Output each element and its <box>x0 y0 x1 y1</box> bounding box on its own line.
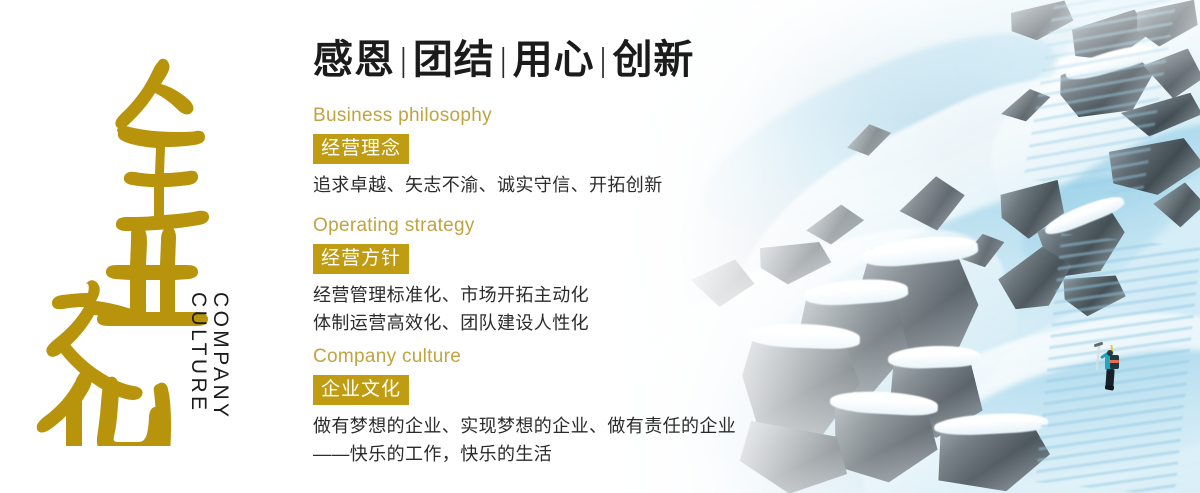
body-line: 追求卓越、矢志不渝、诚实守信、开拓创新 <box>313 172 873 200</box>
section-body: 经营管理标准化、市场开拓主动化 体制运营高效化、团队建设人性化 <box>313 282 873 338</box>
body-line: 做有梦想的企业、实现梦想的企业、做有责任的企业 <box>313 413 873 441</box>
section-badge: 企业文化 <box>313 375 409 405</box>
logo-english-text: COMPANY CULTURE <box>206 292 266 493</box>
section-badge: 经营理念 <box>313 134 409 164</box>
headline-separator: | <box>595 44 613 78</box>
section-operating-strategy: Operating strategy 经营方针 经营管理标准化、市场开拓主动化 … <box>313 214 873 338</box>
section-body: 做有梦想的企业、实现梦想的企业、做有责任的企业 ——快乐的工作，快乐的生活 <box>313 413 873 469</box>
headline-part-4: 创新 <box>612 37 694 82</box>
section-badge: 经营方针 <box>313 244 409 274</box>
logo-english-line-1: COMPANY <box>208 292 232 420</box>
body-line: ——快乐的工作，快乐的生活 <box>313 441 873 469</box>
page-title: 感恩|团结|用心|创新 <box>313 40 694 80</box>
headline-part-3: 用心 <box>513 37 595 82</box>
content-column: 感恩|团结|用心|创新 Business philosophy 经营理念 追求卓… <box>313 0 873 493</box>
section-english-title: Business philosophy <box>313 104 873 128</box>
climber-figure <box>1094 344 1124 392</box>
logo-english-line-2: CULTURE <box>186 292 210 413</box>
section-body: 追求卓越、矢志不渝、诚实守信、开拓创新 <box>313 172 873 200</box>
section-english-title: Operating strategy <box>313 214 873 238</box>
headline-separator: | <box>395 44 413 78</box>
body-line: 经营管理标准化、市场开拓主动化 <box>313 282 873 310</box>
company-culture-logo: COMPANY CULTURE <box>20 46 250 446</box>
section-business-philosophy: Business philosophy 经营理念 追求卓越、矢志不渝、诚实守信、… <box>313 104 873 200</box>
climber-boot <box>1105 384 1115 390</box>
headline-part-1: 感恩 <box>313 37 395 82</box>
backpack-strap <box>1109 360 1119 363</box>
headline-part-2: 团结 <box>413 37 495 82</box>
section-english-title: Company culture <box>313 345 873 369</box>
company-culture-banner: COMPANY CULTURE 感恩|团结|用心|创新 Business phi… <box>0 0 1200 493</box>
body-line: 体制运营高效化、团队建设人性化 <box>313 310 873 338</box>
section-company-culture: Company culture 企业文化 做有梦想的企业、实现梦想的企业、做有责… <box>313 345 873 469</box>
headline-separator: | <box>495 44 513 78</box>
